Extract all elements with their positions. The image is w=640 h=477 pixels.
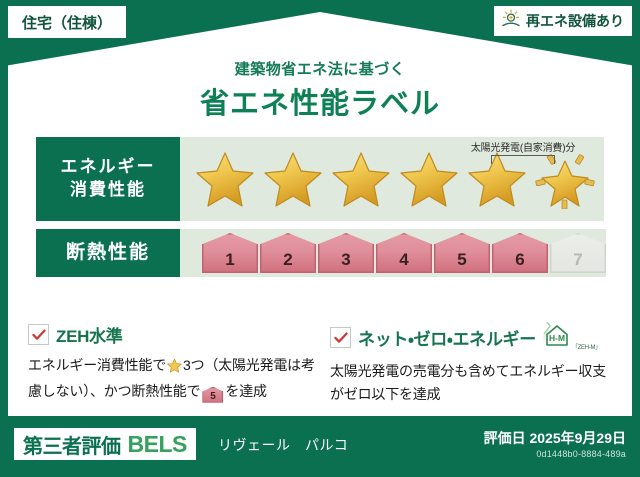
label-footer: 第三者評価 BELS リヴェール パルコ 評価日 2025年9月29日 0d14… — [0, 416, 640, 477]
net-zero-checkbox — [330, 327, 351, 348]
solar-annotation-label: 太陽光発電(自家消費)分 — [448, 139, 598, 154]
criterion-net-zero-energy: ネット・ゼロ・エネルギー H-M 「ZEH-M」 太陽光発電の売電分も含めてエネ… — [330, 322, 618, 405]
solar-generation-annotation: 太陽光発電(自家消費)分 — [448, 139, 598, 164]
zeh-m-caption: 「ZEH-M」 — [572, 342, 601, 353]
evaluation-date: 評価日 2025年9月29日 — [484, 428, 626, 448]
star-filled-3 — [328, 146, 394, 212]
insulation-grade-1: 1 — [202, 233, 258, 273]
energy-performance-row-body: 太陽光発電(自家消費)分 — [180, 137, 604, 221]
bels-logo-jp: 第三者評価 — [23, 430, 121, 459]
zeh-m-house-icon: H-M — [541, 322, 571, 353]
solar-annotation-bracket — [491, 155, 555, 164]
sun-renewable-icon — [500, 9, 522, 34]
net-zero-criterion-title: ネット・ゼロ・エネルギー — [358, 325, 536, 350]
renewable-equipment-badge: 再エネ設備あり — [494, 6, 632, 36]
insulation-grade-7: 7 — [550, 233, 606, 273]
zeh-criterion-title: ZEH水準 — [56, 322, 123, 347]
insulation-grade-4: 4 — [376, 233, 432, 273]
bels-logo-en: BELS — [128, 431, 187, 458]
label-title: 省エネ性能ラベル — [0, 80, 640, 122]
insulation-performance-row: 断熱性能 1 2 3 4 5 6 7 — [36, 229, 604, 277]
insulation-row-label: 断熱性能 — [36, 229, 180, 277]
energy-performance-row-label: エネルギー 消費性能 — [36, 137, 180, 221]
evaluation-id: 0d1448b0-8884-489a — [536, 449, 626, 459]
category-tag: 住宅（住棟） — [8, 6, 126, 38]
inline-grade-chip: 5 — [202, 387, 223, 403]
insulation-grade-2: 2 — [260, 233, 316, 273]
insulation-grade-3: 3 — [318, 233, 374, 273]
insulation-row-body: 1 2 3 4 5 6 7 — [180, 229, 606, 277]
inline-star-icon — [167, 360, 182, 376]
net-zero-criterion-description: 太陽光発電の売電分も含めてエネルギー収支がゼロ以下を達成 — [330, 360, 618, 405]
svg-text:H-M: H-M — [549, 333, 565, 343]
insulation-label-text: 断熱性能 — [66, 240, 150, 266]
insulation-grade-6: 6 — [492, 233, 548, 273]
insulation-grade-5: 5 — [434, 233, 490, 273]
energy-performance-row: エネルギー 消費性能 — [36, 137, 604, 221]
renewable-badge-label: 再エネ設備あり — [526, 11, 624, 31]
star-filled-1 — [192, 146, 258, 212]
energy-label-line2: 消費性能 — [70, 179, 146, 202]
energy-label-line1: エネルギー — [61, 156, 156, 179]
criteria-section: ZEH水準 エネルギー消費性能で3つ（太陽光発電は考慮しない）、かつ断熱性能で5… — [28, 322, 618, 405]
building-name: リヴェール パルコ — [218, 435, 348, 455]
bels-logo: 第三者評価 BELS — [14, 428, 196, 460]
zeh-checkbox — [28, 324, 49, 345]
zeh-desc-pre: エネルギー消費性能で — [28, 357, 166, 373]
rating-rows: エネルギー 消費性能 — [36, 137, 604, 285]
zeh-m-mark: H-M 「ZEH-M」 — [541, 322, 601, 353]
zeh-desc-post: を達成 — [225, 383, 266, 399]
zeh-criterion-description: エネルギー消費性能で3つ（太陽光発電は考慮しない）、かつ断熱性能で5を達成 — [28, 354, 316, 403]
label-subtitle: 建築物省エネ法に基づく — [0, 58, 640, 79]
category-tag-label: 住宅（住棟） — [22, 12, 112, 33]
energy-performance-label: 住宅（住棟） 再エネ設備あり 建築物省エネ法に基づく 省エネ性能ラベル — [0, 0, 640, 477]
criterion-zeh-standard: ZEH水準 エネルギー消費性能で3つ（太陽光発電は考慮しない）、かつ断熱性能で5… — [28, 322, 316, 405]
insulation-grade-scale: 1 2 3 4 5 6 7 — [202, 233, 606, 273]
zeh-criterion-header: ZEH水準 — [28, 322, 316, 347]
net-zero-criterion-header: ネット・ゼロ・エネルギー H-M 「ZEH-M」 — [330, 322, 618, 353]
star-filled-2 — [260, 146, 326, 212]
